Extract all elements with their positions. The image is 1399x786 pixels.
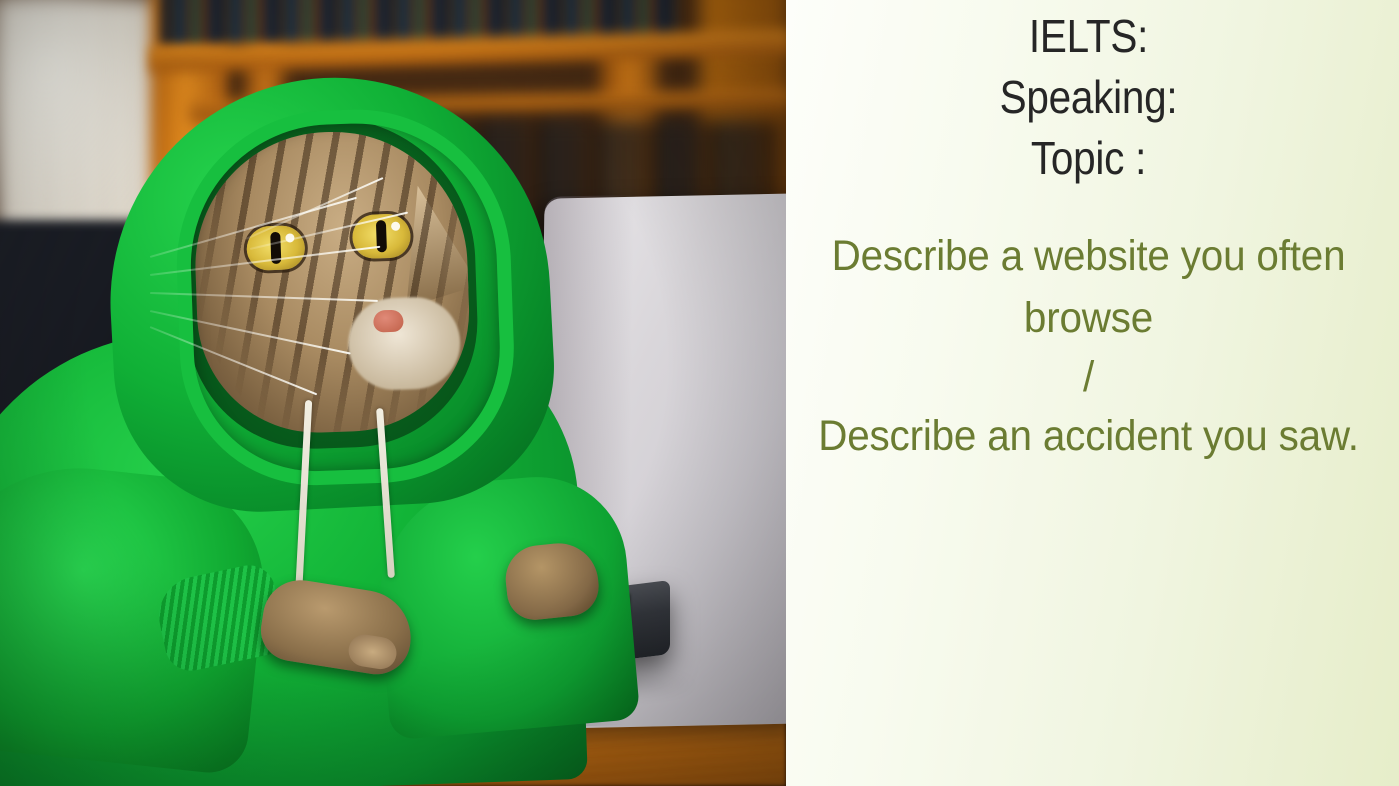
whisker-2 [150,246,381,276]
heading-line-exam: IELTS: [822,6,1354,67]
slide-heading: IELTS: Speaking: Topic : [822,0,1354,189]
topic-separator-slash: / [804,349,1373,405]
whisker-3 [150,292,378,302]
cat-laptop-photo [0,0,786,786]
heading-line-topic-label: Topic : [822,128,1354,189]
topic-line-1: Describe a website you often [804,225,1373,287]
cat-whiskers [150,230,530,410]
topic-text: Describe a website you often browse / De… [804,225,1373,467]
topic-line-3: Describe an accident you saw. [804,405,1373,467]
text-panel: IELTS: Speaking: Topic : Describe a webs… [786,0,1399,786]
slide-root: IELTS: Speaking: Topic : Describe a webs… [0,0,1399,786]
whisker-5 [150,326,318,395]
whisker-4 [150,310,351,355]
topic-line-2: browse [804,287,1373,349]
heading-line-section: Speaking: [822,67,1354,128]
text-panel-content: IELTS: Speaking: Topic : Describe a webs… [786,0,1391,467]
